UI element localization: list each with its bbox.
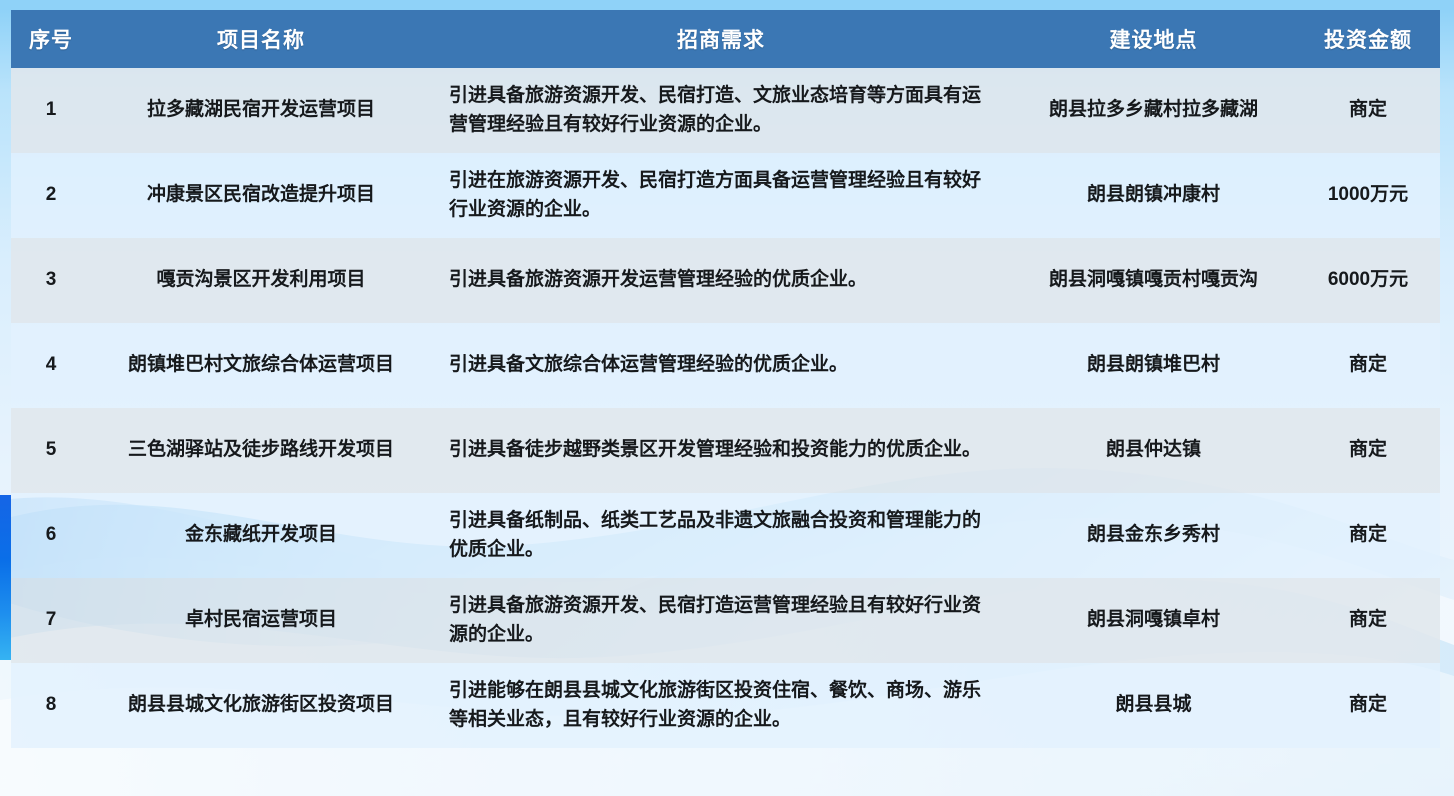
table-body: 1 拉多藏湖民宿开发运营项目 引进具备旅游资源开发、民宿打造、文旅业态培育等方面… [11, 68, 1440, 748]
cell-location: 朗县朗镇冲康村 [1011, 153, 1296, 238]
cell-location: 朗县洞嘎镇卓村 [1011, 578, 1296, 663]
cell-requirement: 引进具备文旅综合体运营管理经验的优质企业。 [431, 323, 1011, 408]
cell-location: 朗县金东乡秀村 [1011, 493, 1296, 578]
cell-requirement: 引进具备徒步越野类景区开发管理经验和投资能力的优质企业。 [431, 408, 1011, 493]
cell-project-name: 嘎贡沟景区开发利用项目 [91, 238, 431, 323]
cell-project-name: 金东藏纸开发项目 [91, 493, 431, 578]
cell-amount: 商定 [1296, 578, 1440, 663]
table-row[interactable]: 3 嘎贡沟景区开发利用项目 引进具备旅游资源开发运营管理经验的优质企业。 朗县洞… [11, 238, 1440, 323]
cell-index: 7 [11, 578, 91, 663]
cell-requirement: 引进在旅游资源开发、民宿打造方面具备运营管理经验且有较好行业资源的企业。 [431, 153, 1011, 238]
column-header-amount[interactable]: 投资金额 [1296, 10, 1440, 68]
column-header-index[interactable]: 序号 [11, 10, 91, 68]
cell-amount: 商定 [1296, 408, 1440, 493]
cell-index: 1 [11, 68, 91, 153]
cell-requirement: 引进具备纸制品、纸类工艺品及非遗文旅融合投资和管理能力的优质企业。 [431, 493, 1011, 578]
cell-requirement: 引进具备旅游资源开发、民宿打造运营管理经验且有较好行业资源的企业。 [431, 578, 1011, 663]
column-header-project-name[interactable]: 项目名称 [91, 10, 431, 68]
table-row[interactable]: 2 冲康景区民宿改造提升项目 引进在旅游资源开发、民宿打造方面具备运营管理经验且… [11, 153, 1440, 238]
cell-location: 朗县仲达镇 [1011, 408, 1296, 493]
cell-location: 朗县朗镇堆巴村 [1011, 323, 1296, 408]
cell-project-name: 冲康景区民宿改造提升项目 [91, 153, 431, 238]
cell-location: 朗县拉多乡藏村拉多藏湖 [1011, 68, 1296, 153]
column-header-location[interactable]: 建设地点 [1011, 10, 1296, 68]
cell-amount: 商定 [1296, 493, 1440, 578]
cell-amount: 商定 [1296, 663, 1440, 748]
cell-index: 6 [11, 493, 91, 578]
left-edge-accent-bar [0, 495, 11, 660]
cell-project-name: 拉多藏湖民宿开发运营项目 [91, 68, 431, 153]
cell-project-name: 三色湖驿站及徒步路线开发项目 [91, 408, 431, 493]
table-row[interactable]: 1 拉多藏湖民宿开发运营项目 引进具备旅游资源开发、民宿打造、文旅业态培育等方面… [11, 68, 1440, 153]
cell-amount: 6000万元 [1296, 238, 1440, 323]
cell-requirement: 引进能够在朗县县城文化旅游街区投资住宿、餐饮、商场、游乐等相关业态，且有较好行业… [431, 663, 1011, 748]
column-header-requirement[interactable]: 招商需求 [431, 10, 1011, 68]
cell-index: 8 [11, 663, 91, 748]
table-row[interactable]: 5 三色湖驿站及徒步路线开发项目 引进具备徒步越野类景区开发管理经验和投资能力的… [11, 408, 1440, 493]
table-header: 序号 项目名称 招商需求 建设地点 投资金额 [11, 10, 1440, 68]
table-row[interactable]: 4 朗镇堆巴村文旅综合体运营项目 引进具备文旅综合体运营管理经验的优质企业。 朗… [11, 323, 1440, 408]
table-row[interactable]: 8 朗县县城文化旅游街区投资项目 引进能够在朗县县城文化旅游街区投资住宿、餐饮、… [11, 663, 1440, 748]
cell-amount: 商定 [1296, 68, 1440, 153]
page-root: 序号 项目名称 招商需求 建设地点 投资金额 1 拉多藏湖民宿开发运营项目 引进… [0, 0, 1454, 796]
investment-projects-table: 序号 项目名称 招商需求 建设地点 投资金额 1 拉多藏湖民宿开发运营项目 引进… [11, 10, 1440, 748]
cell-location: 朗县洞嘎镇嘎贡村嘎贡沟 [1011, 238, 1296, 323]
table-header-row: 序号 项目名称 招商需求 建设地点 投资金额 [11, 10, 1440, 68]
cell-project-name: 卓村民宿运营项目 [91, 578, 431, 663]
cell-location: 朗县县城 [1011, 663, 1296, 748]
cell-index: 2 [11, 153, 91, 238]
cell-amount: 1000万元 [1296, 153, 1440, 238]
cell-requirement: 引进具备旅游资源开发运营管理经验的优质企业。 [431, 238, 1011, 323]
table-row[interactable]: 6 金东藏纸开发项目 引进具备纸制品、纸类工艺品及非遗文旅融合投资和管理能力的优… [11, 493, 1440, 578]
cell-amount: 商定 [1296, 323, 1440, 408]
cell-project-name: 朗镇堆巴村文旅综合体运营项目 [91, 323, 431, 408]
cell-requirement: 引进具备旅游资源开发、民宿打造、文旅业态培育等方面具有运营管理经验且有较好行业资… [431, 68, 1011, 153]
cell-index: 3 [11, 238, 91, 323]
cell-index: 4 [11, 323, 91, 408]
table-row[interactable]: 7 卓村民宿运营项目 引进具备旅游资源开发、民宿打造运营管理经验且有较好行业资源… [11, 578, 1440, 663]
cell-project-name: 朗县县城文化旅游街区投资项目 [91, 663, 431, 748]
cell-index: 5 [11, 408, 91, 493]
investment-projects-table-container: 序号 项目名称 招商需求 建设地点 投资金额 1 拉多藏湖民宿开发运营项目 引进… [11, 10, 1440, 786]
